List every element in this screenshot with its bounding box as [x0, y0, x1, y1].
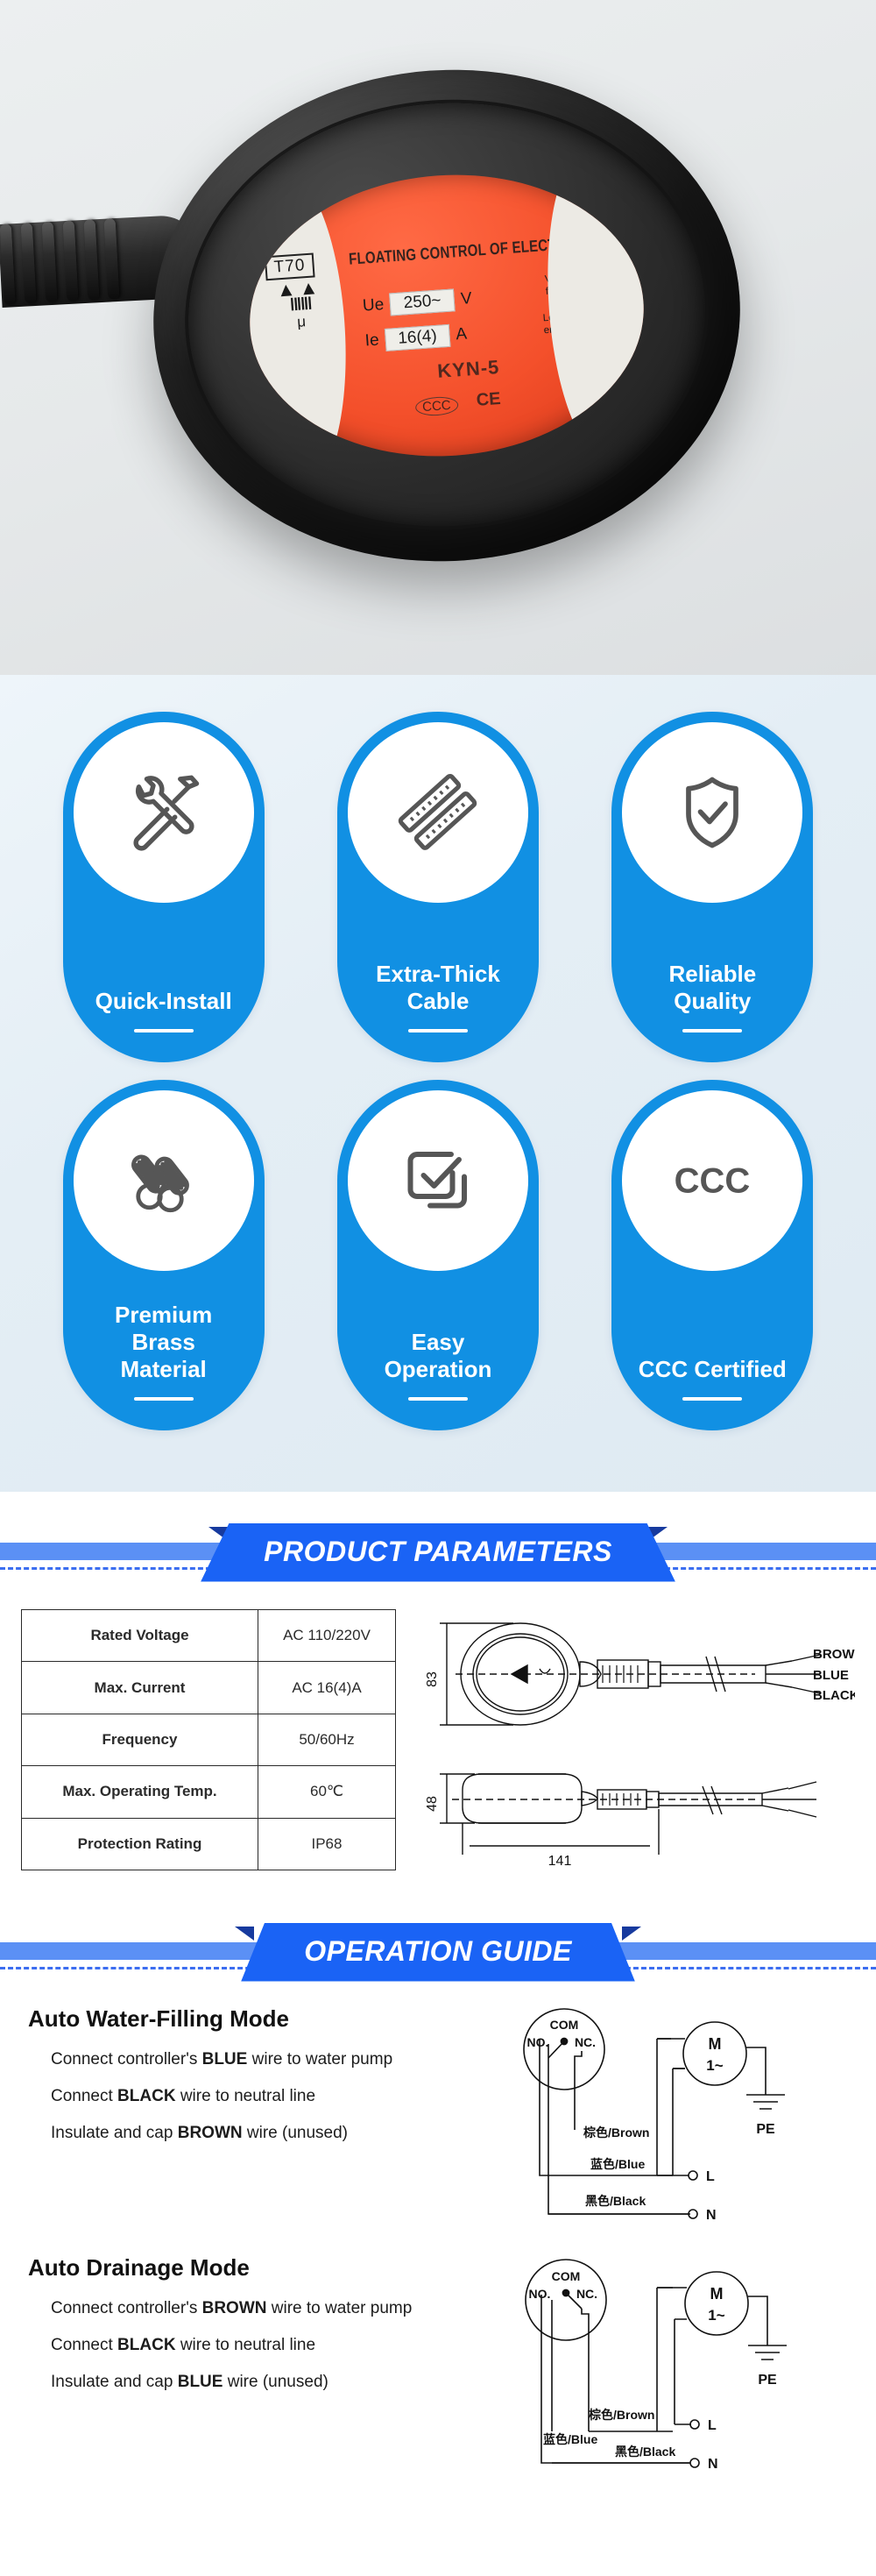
- spec-key: Frequency: [22, 1714, 258, 1765]
- terminal-l: L: [706, 2169, 715, 2184]
- svg-text:CCC: CCC: [675, 1162, 751, 1201]
- motor-phase: 1~: [708, 2307, 724, 2324]
- step-text-pre: Connect controller's: [51, 2050, 202, 2069]
- product-detail-page: T70 ▲▲ ‖‖‖ μ FLOATING CONTROL OF ELECTRI…: [0, 0, 876, 2528]
- feature-label: CCC Certified: [630, 1356, 795, 1383]
- product-rating-label: T70 ▲▲ ‖‖‖ μ FLOATING CONTROL OF ELECTRI…: [240, 162, 653, 470]
- feature-icon-circle: [74, 722, 254, 903]
- terminal-no: NO.: [527, 2035, 549, 2049]
- terminal-l: L: [708, 2418, 717, 2433]
- label-empty-wire2: braun/brown: [576, 319, 633, 333]
- wire-label-blue: 蓝色/Blue: [590, 2157, 645, 2171]
- specification-table: Rated Voltage AC 110/220V Max. Current A…: [21, 1609, 396, 1870]
- label-ue-unit: V: [460, 289, 472, 309]
- feature-underline: [408, 1397, 468, 1401]
- dimension-height-83: 83: [425, 1671, 440, 1687]
- spec-value: 50/60Hz: [258, 1714, 396, 1765]
- spec-value: AC 16(4)A: [258, 1662, 396, 1714]
- step-text-bold: BLACK: [117, 2087, 176, 2105]
- label-ie-key: Ie: [364, 330, 379, 351]
- spec-key: Max. Operating Temp.: [22, 1766, 258, 1818]
- feature-icon-circle: CCC: [622, 1090, 802, 1271]
- table-row: Max. Operating Temp. 60℃: [22, 1766, 396, 1818]
- step-text-post: wire (unused): [243, 2124, 348, 2142]
- wire-label-blue: 蓝色/Blue: [543, 2432, 597, 2446]
- wire-label-brown: BROWN: [813, 1647, 855, 1662]
- cable-strain-relief-ribs: [0, 217, 133, 305]
- feature-row-1: Quick-Install: [26, 712, 850, 1062]
- ccc-text-icon: CCC: [670, 1139, 754, 1223]
- terminal-com: COM: [550, 2018, 579, 2032]
- step-text-pre: Insulate and cap: [51, 2373, 178, 2391]
- ce-mark-icon: CE: [476, 389, 501, 411]
- label-empty-wire1: blau/blue: [575, 309, 616, 322]
- table-row: Frequency 50/60Hz: [22, 1714, 396, 1765]
- banner-notch-left: [235, 1927, 254, 1941]
- label-full-de: Voll: [544, 273, 561, 285]
- label-ie-unit: A: [456, 324, 468, 344]
- label-empty-wiring: Leer } blau/blue empty braun/brown: [542, 306, 632, 337]
- operation-mode-water-filling: Auto Water-Filling Mode Connect controll…: [21, 2005, 855, 2242]
- shield-check-icon: [670, 770, 754, 855]
- dimension-height-48: 48: [425, 1796, 440, 1812]
- motor-symbol: M: [709, 2035, 722, 2053]
- spec-value: IP68: [258, 1818, 396, 1870]
- wire-label-black: 黑色/Black: [585, 2194, 646, 2208]
- feature-underline: [134, 1397, 194, 1401]
- label-symbol-block: ▲▲ ‖‖‖ μ: [272, 280, 329, 333]
- step-text-pre: Connect controller's: [51, 2299, 202, 2317]
- label-full-wire1: blau/blue: [572, 270, 613, 283]
- label-model-code: PN-X: [561, 223, 623, 257]
- mode-step: Connect controller's BROWN wire to water…: [28, 2297, 477, 2320]
- feature-highlights: Quick-Install: [0, 675, 876, 1492]
- feature-underline: [134, 1029, 194, 1033]
- feature-label: ReliableQuality: [660, 961, 765, 1015]
- mode-step: Insulate and cap BLUE wire (unused): [28, 2371, 477, 2394]
- mode-step: Insulate and cap BROWN wire (unused): [28, 2122, 477, 2145]
- feature-underline: [408, 1029, 468, 1033]
- terminal-nc: NC.: [575, 2035, 596, 2049]
- thick-cable-icon: [396, 770, 480, 855]
- operation-mode-drainage: Auto Drainage Mode Connect controller's …: [21, 2254, 855, 2491]
- terminal-n: N: [708, 2457, 718, 2472]
- label-ue-value: 250~: [389, 288, 456, 316]
- operation-guide-section: Auto Water-Filling Mode Connect controll…: [0, 1983, 876, 2528]
- terminal-no: NO.: [529, 2287, 551, 2301]
- step-text-post: wire to water pump: [267, 2299, 413, 2317]
- wire-label-blue: BLUE: [813, 1668, 849, 1683]
- section-title-operation-guide: OPERATION GUIDE: [241, 1923, 635, 1982]
- mode-title: Auto Drainage Mode: [28, 2254, 477, 2281]
- wire-label-black: BLACK: [813, 1688, 855, 1703]
- spec-value: AC 110/220V: [258, 1610, 396, 1662]
- step-text-bold: BLACK: [117, 2336, 176, 2354]
- label-ie-value: 16(4): [385, 324, 451, 351]
- product-parameters-banner: PRODUCT PARAMETERS: [0, 1492, 876, 1583]
- spec-key: Max. Current: [22, 1662, 258, 1714]
- banner-notch-right: [622, 1927, 641, 1941]
- wire-label-black: 黑色/Black: [615, 2445, 675, 2459]
- terminal-com: COM: [552, 2269, 581, 2283]
- mode-step: Connect controller's BLUE wire to water …: [28, 2048, 477, 2071]
- motor-phase: 1~: [706, 2057, 723, 2074]
- hero-product-photo: T70 ▲▲ ‖‖‖ μ FLOATING CONTROL OF ELECTRI…: [0, 0, 876, 675]
- feature-row-2: PremiumBrassMaterial EasyOperation: [26, 1080, 850, 1430]
- brass-rods-icon: [122, 1139, 206, 1223]
- section-title-product-parameters: PRODUCT PARAMETERS: [201, 1523, 675, 1582]
- wire-label-brown: 棕色/Brown: [588, 2408, 654, 2422]
- label-ue-key: Ue: [362, 295, 385, 316]
- spec-key: Rated Voltage: [22, 1610, 258, 1662]
- label-micro-symbol: μ: [274, 311, 329, 332]
- step-text-bold: BROWN: [202, 2299, 267, 2317]
- checkbox-stack-icon: [396, 1139, 480, 1223]
- step-text-bold: BLUE: [202, 2050, 248, 2069]
- step-text-post: wire (unused): [223, 2373, 328, 2391]
- operation-guide-banner: OPERATION GUIDE: [0, 1891, 876, 1983]
- step-text-post: wire to water pump: [247, 2050, 392, 2069]
- mode-step: Connect BLACK wire to neutral line: [28, 2334, 477, 2357]
- spec-key: Protection Rating: [22, 1818, 258, 1870]
- step-text-pre: Connect: [51, 2336, 117, 2354]
- step-text-post: wire to neutral line: [176, 2087, 315, 2105]
- label-full-wiring: Voll } blau/blue full schwarz/black: [544, 267, 630, 298]
- feature-card-ccc-certified[interactable]: CCC CCC Certified: [611, 1080, 813, 1430]
- drawing-side-view: 48 141: [417, 1748, 855, 1870]
- feature-icon-circle: [348, 1090, 528, 1271]
- feature-card-extra-thick-cable[interactable]: Extra-ThickCable: [337, 712, 539, 1062]
- feature-card-quick-install[interactable]: Quick-Install: [63, 712, 265, 1062]
- wrench-screwdriver-icon: [122, 770, 206, 855]
- parameters-section: Rated Voltage AC 110/220V Max. Current A…: [0, 1583, 876, 1891]
- label-full-wire2: schwarz/black: [567, 280, 631, 295]
- label-brand-code: KYN-5: [437, 356, 501, 383]
- step-text-pre: Insulate and cap: [51, 2124, 178, 2142]
- label-empty-de: Leer: [542, 312, 563, 324]
- mode-step: Connect BLACK wire to neutral line: [28, 2085, 477, 2108]
- feature-label: Extra-ThickCable: [367, 961, 509, 1015]
- feature-card-easy-operation[interactable]: EasyOperation: [337, 1080, 539, 1430]
- earth-label: PE: [758, 2373, 777, 2388]
- spec-value: 60℃: [258, 1766, 396, 1818]
- feature-label: EasyOperation: [376, 1329, 501, 1383]
- drawing-top-view: 83 BROWN BLUE BLACK: [417, 1611, 855, 1742]
- feature-label: PremiumBrassMaterial: [106, 1302, 221, 1383]
- terminal-nc: NC.: [576, 2287, 597, 2301]
- feature-icon-circle: [622, 722, 802, 903]
- label-empty-en: empty: [543, 323, 571, 336]
- feature-card-reliable-quality[interactable]: ReliableQuality: [611, 712, 813, 1062]
- step-text-bold: BLUE: [178, 2373, 223, 2391]
- label-full-en: full: [545, 286, 559, 297]
- label-voltage-row: Ue 250~ V: [362, 287, 472, 318]
- step-text-bold: BROWN: [178, 2124, 243, 2142]
- feature-label: Quick-Install: [87, 988, 241, 1015]
- earth-label: PE: [756, 2122, 775, 2137]
- feature-icon-circle: [348, 722, 528, 903]
- wire-label-brown: 棕色/Brown: [583, 2125, 649, 2140]
- terminal-n: N: [706, 2208, 717, 2223]
- table-row: Protection Rating IP68: [22, 1818, 396, 1870]
- table-row: Max. Current AC 16(4)A: [22, 1662, 396, 1714]
- step-text-pre: Connect: [51, 2087, 117, 2105]
- table-row: Rated Voltage AC 110/220V: [22, 1610, 396, 1662]
- feature-card-premium-brass-material[interactable]: PremiumBrassMaterial: [63, 1080, 265, 1430]
- wiring-diagram-water-filling: COM NO. NC. M 1~ PE 棕色/Brown 蓝色/Blue 黑色/…: [487, 2005, 855, 2242]
- technical-drawings: 83 BROWN BLUE BLACK: [417, 1609, 855, 1870]
- feature-icon-circle: [74, 1090, 254, 1271]
- dimension-length-141: 141: [548, 1854, 572, 1869]
- ccc-mark-icon: CCC: [415, 395, 459, 416]
- mode-title: Auto Water-Filling Mode: [28, 2005, 477, 2033]
- motor-symbol: M: [710, 2285, 724, 2303]
- label-product-title: FLOATING CONTROL OF ELECTRICAL PUMP: [349, 230, 640, 268]
- feature-underline: [682, 1397, 742, 1401]
- step-text-post: wire to neutral line: [176, 2336, 315, 2354]
- wiring-diagram-drainage: COM NO. NC. M 1~ PE 棕色/Brown 蓝色/Blue 黑色/…: [487, 2254, 855, 2491]
- label-current-row: Ie 16(4) A: [364, 323, 468, 352]
- feature-underline: [682, 1029, 742, 1033]
